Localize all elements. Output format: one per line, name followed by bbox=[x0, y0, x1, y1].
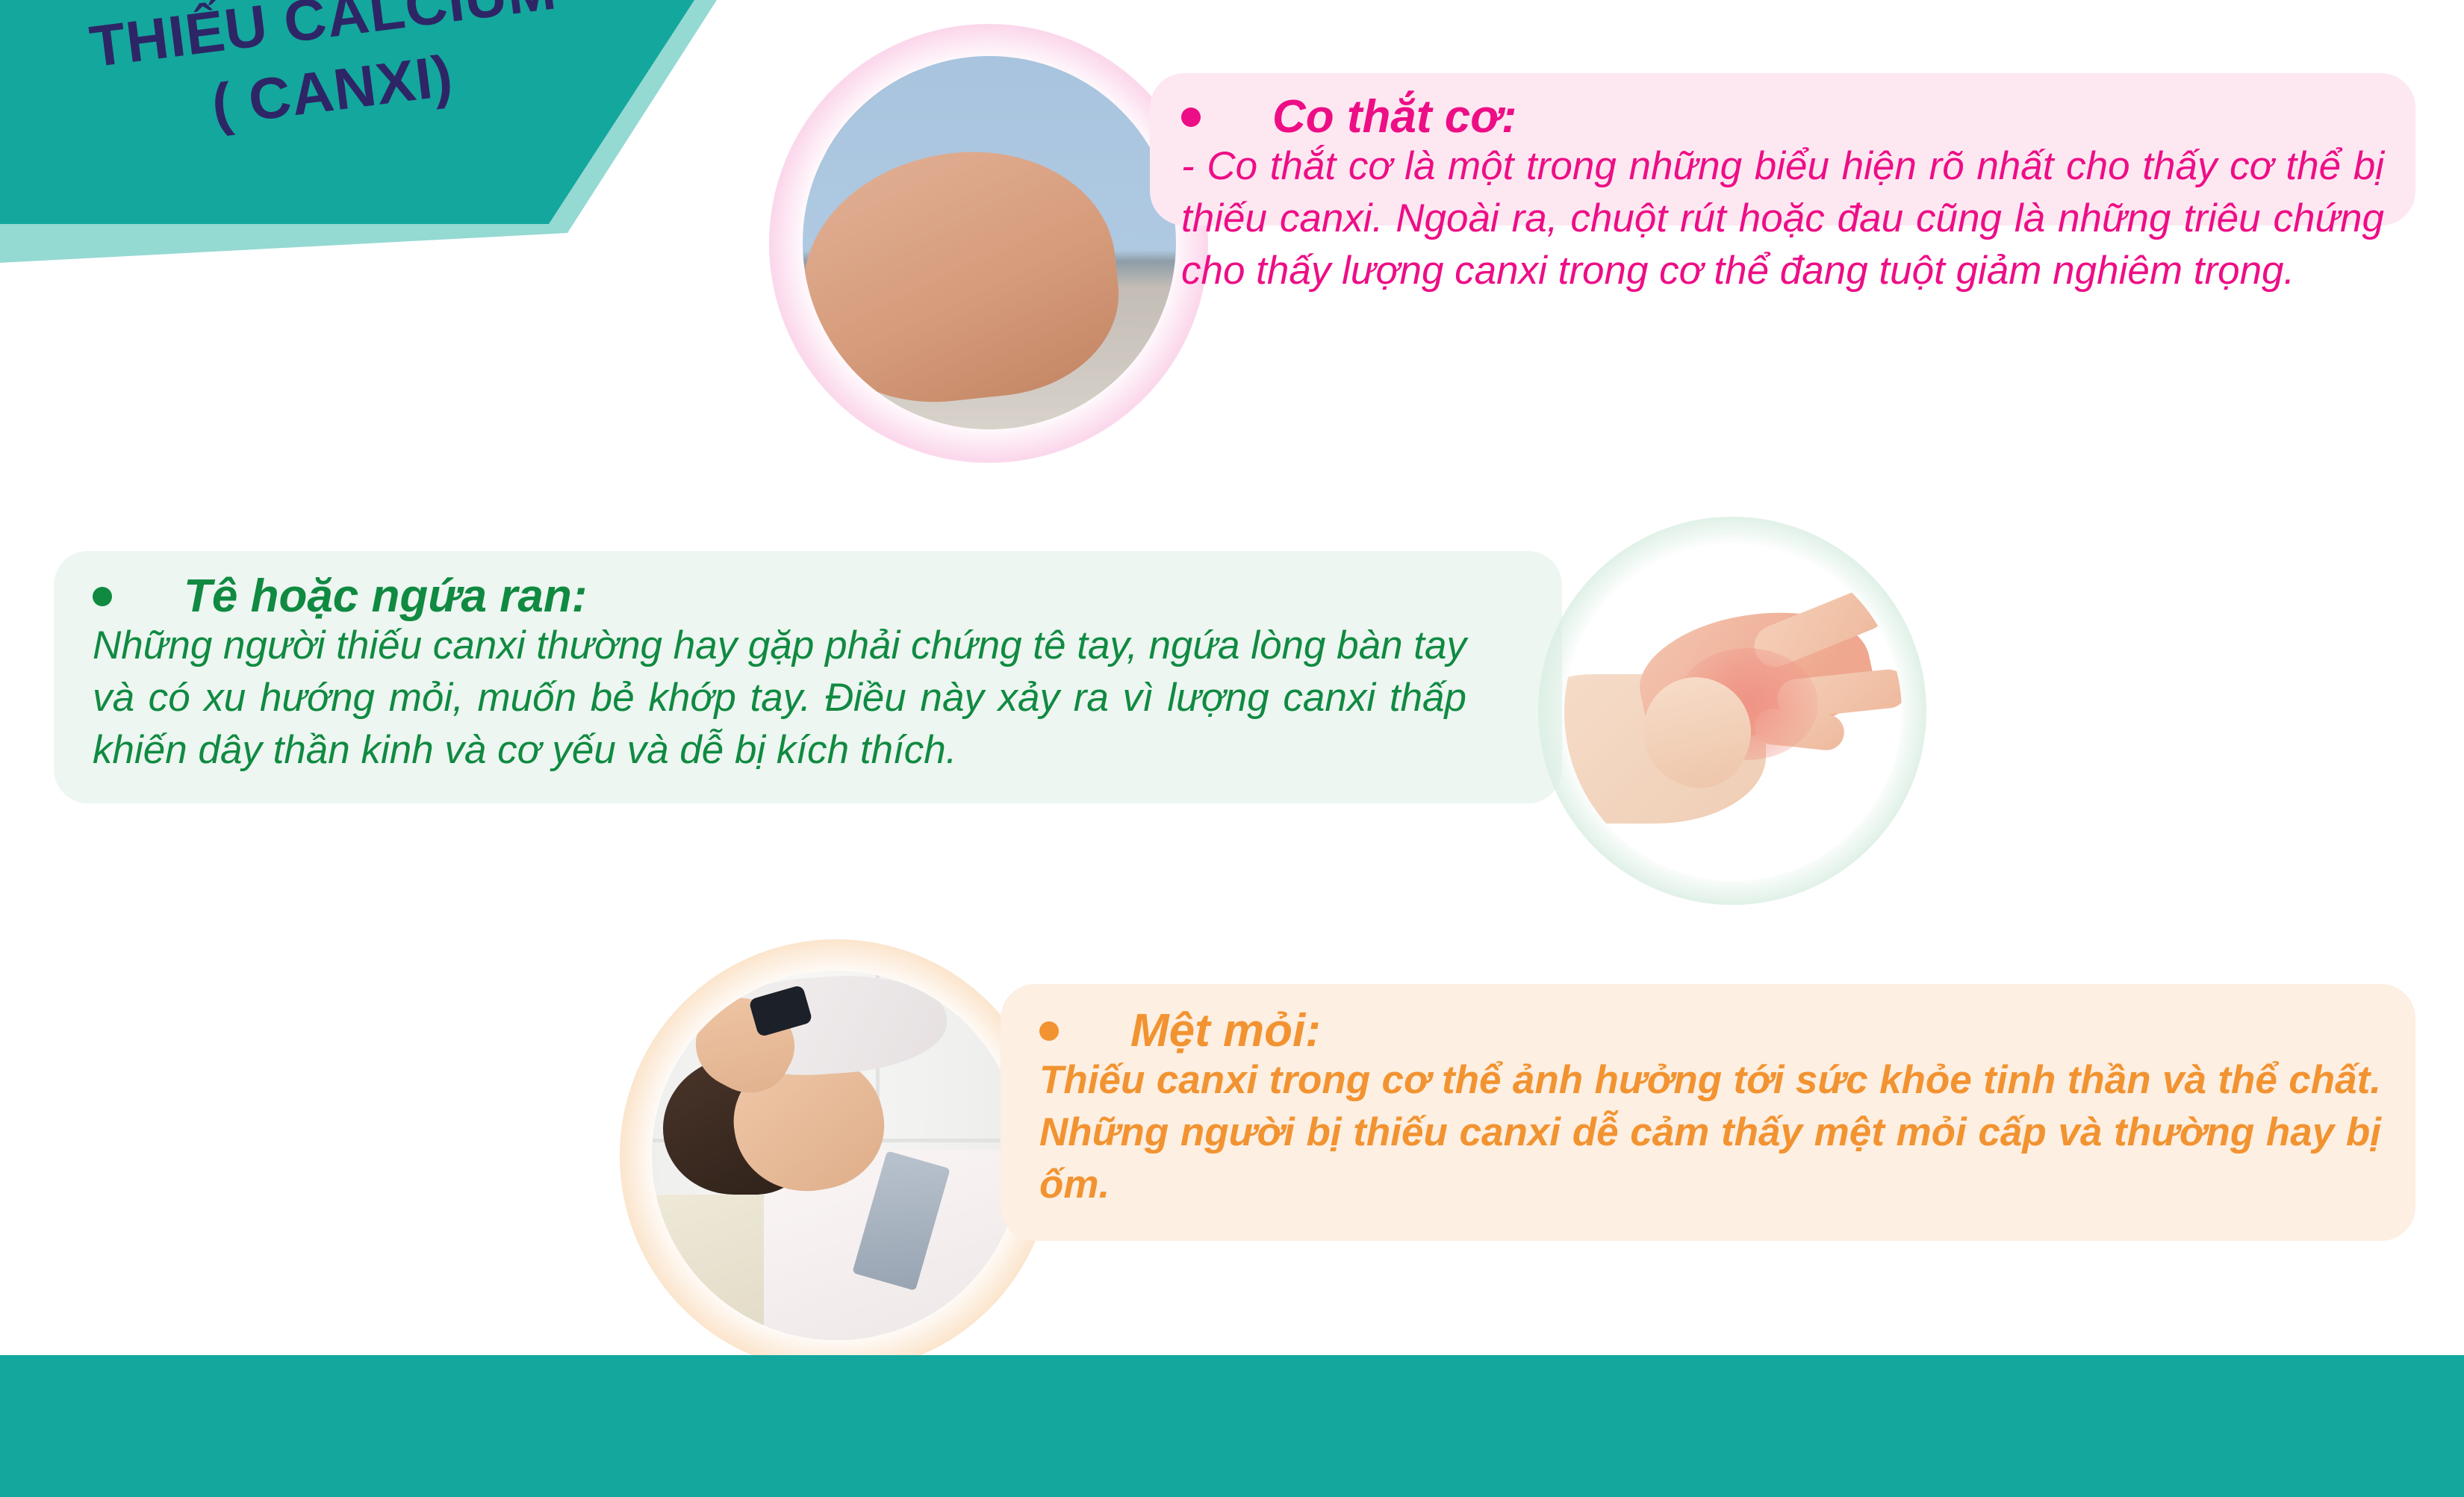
bullet-icon bbox=[1039, 1021, 1059, 1041]
header-banner: THIẾU CALCIUM ( CANXI) bbox=[0, 0, 791, 299]
section-body-te-hoac-ngua-ran: Những người thiếu canxi thường hay gặp p… bbox=[93, 620, 1466, 776]
section-card-te-hoac-ngua-ran: Tê hoặc ngứa ran: Những người thiếu canx… bbox=[54, 551, 1562, 803]
section-title-text: Tê hoặc ngứa ran: bbox=[184, 573, 587, 620]
section-title-text: Co thắt cơ: bbox=[1272, 94, 1517, 140]
bullet-icon bbox=[1181, 108, 1201, 127]
leg-cramp-photo bbox=[803, 56, 1176, 429]
section-body-co-that-co: - Co thắt cơ là một trong những biểu hiệ… bbox=[1181, 140, 2384, 297]
tired-man-photo bbox=[652, 971, 1021, 1340]
bullet-icon bbox=[93, 587, 112, 606]
section-title-met-moi: Mệt mỏi: bbox=[1039, 1008, 2381, 1054]
section-card-co-that-co: Co thắt cơ: - Co thắt cơ là một trong nh… bbox=[1150, 73, 2415, 225]
section-title-co-that-co: Co thắt cơ: bbox=[1181, 94, 2384, 140]
hand-nerve-pain-photo bbox=[1564, 544, 1902, 881]
section-body-met-moi: Thiếu canxi trong cơ thể ảnh hưởng tới s… bbox=[1039, 1054, 2381, 1211]
section-card-met-moi: Mệt mỏi: Thiếu canxi trong cơ thể ảnh hư… bbox=[1001, 984, 2415, 1241]
section-title-te-hoac-ngua-ran: Tê hoặc ngứa ran: bbox=[93, 573, 1528, 620]
footer-bar bbox=[0, 1355, 2464, 1497]
section-title-text: Mệt mỏi: bbox=[1130, 1008, 1321, 1054]
